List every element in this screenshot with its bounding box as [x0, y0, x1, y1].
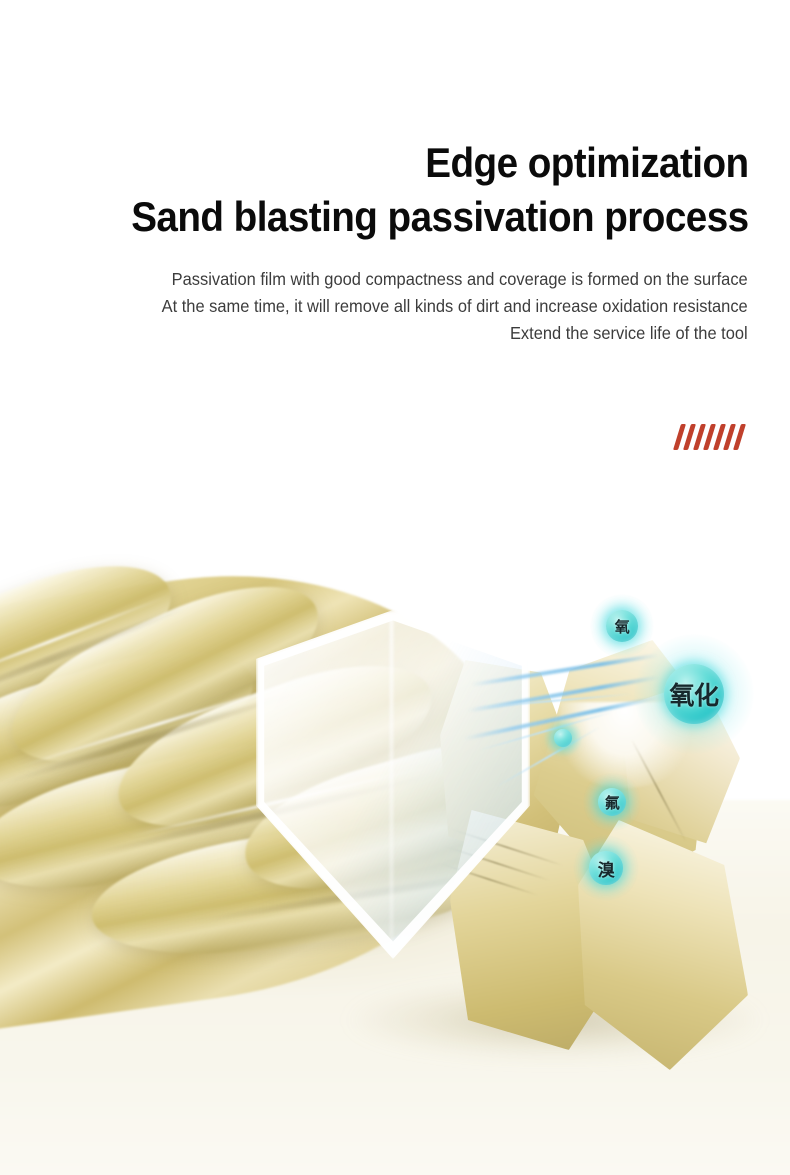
subtext-line-2: At the same time, it will remove all kin…: [47, 293, 790, 320]
subtext-line-3: Extend the service life of the tool: [47, 320, 790, 347]
molecule-label: 溴: [598, 856, 615, 881]
headline-line-1: Edge optimization: [63, 142, 790, 184]
headline-line-2: Sand blasting passivation process: [63, 196, 790, 238]
copy-block: Edge optimization Sand blasting passivat…: [0, 0, 790, 347]
marketing-banner: 氧 氧化 氟 溴 Edge optimization Sand blasting…: [0, 0, 790, 1175]
molecule-label: 氧: [615, 616, 630, 637]
shield-spine: [390, 614, 393, 954]
molecule-badge-particle: [550, 725, 576, 751]
molecule-badge-fluorine: 氟: [592, 782, 632, 822]
molecule-badge-bromine: 溴: [583, 845, 629, 891]
molecule-label: 氧化: [669, 676, 718, 712]
subtext-line-1: Passivation film with good compactness a…: [47, 266, 790, 293]
red-slash-marks: [677, 424, 742, 450]
molecule-badge-oxygen: 氧: [600, 604, 644, 648]
molecule-label: 氟: [605, 792, 620, 813]
molecule-badge-oxidation: 氧化: [652, 652, 736, 736]
